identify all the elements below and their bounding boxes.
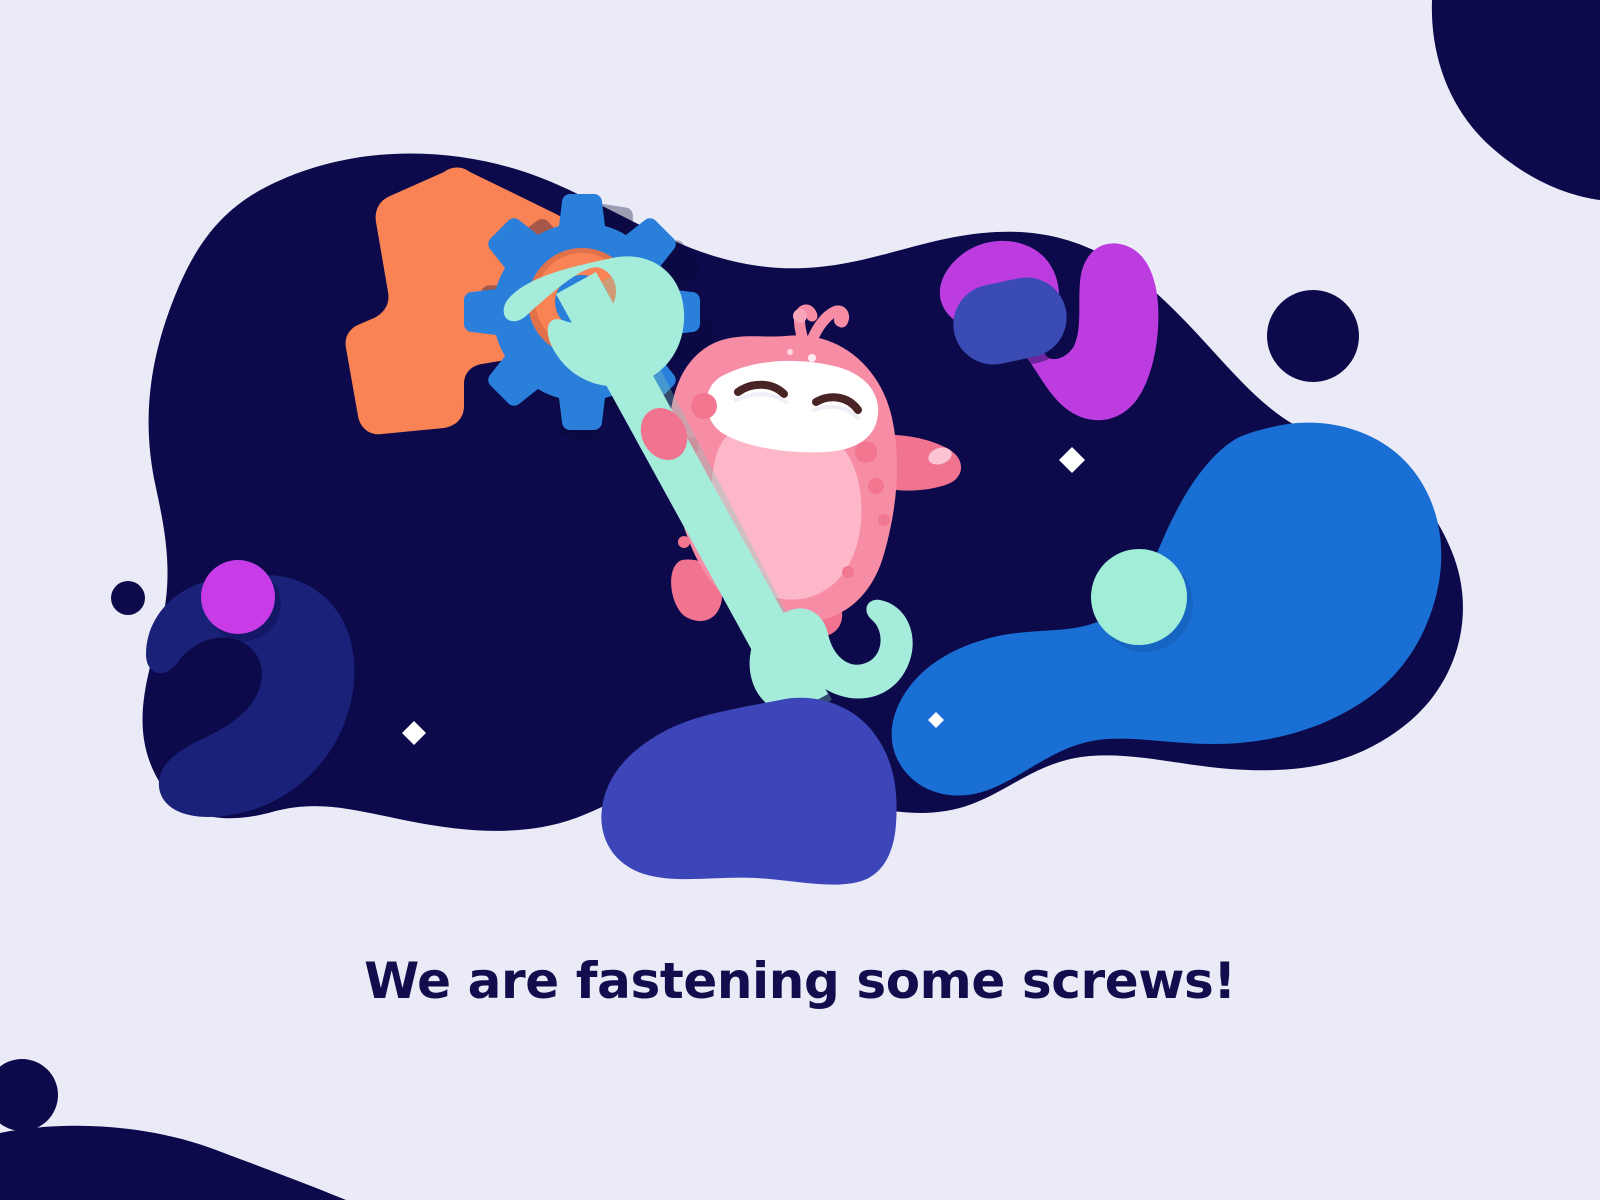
navy-dot-bottom-left — [0, 1059, 58, 1131]
illustration-stage — [0, 0, 1600, 1200]
navy-corner-blob-top-right — [1432, 0, 1600, 200]
maintenance-page: We are fastening some screws! — [0, 0, 1600, 1200]
navy-circle-top-right — [1267, 290, 1359, 382]
navy-corner-blob-bottom-left — [0, 1126, 346, 1200]
navy-dot-left — [111, 581, 145, 615]
page-headline: We are fastening some screws! — [0, 952, 1600, 1010]
